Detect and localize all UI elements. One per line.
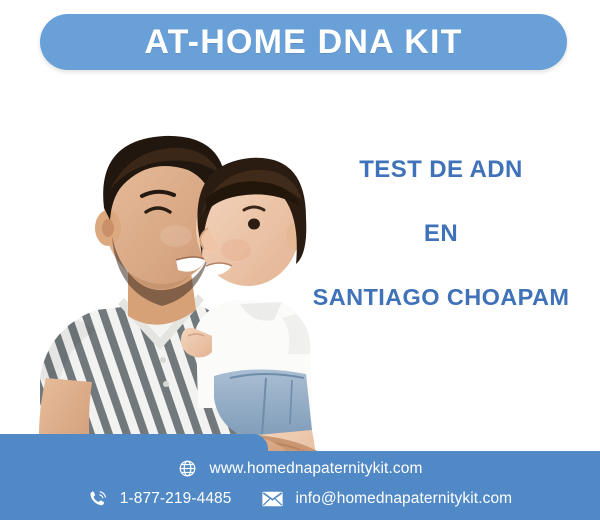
phone-contact-item[interactable]: 1-877-219-4485	[88, 489, 232, 508]
footer-phone-email-row: 1-877-219-4485 info@homednapaternitykit.…	[0, 489, 600, 508]
heading-line-location: SANTIAGO CHOAPAM	[296, 286, 586, 310]
header-pill-banner: AT-HOME DNA KIT	[40, 14, 567, 70]
email-address: info@homednapaternitykit.com	[296, 491, 513, 507]
phone-icon	[88, 489, 107, 508]
email-contact-item[interactable]: info@homednapaternitykit.com	[262, 491, 513, 507]
page-title: AT-HOME DNA KIT	[144, 25, 462, 59]
footer-contact-bar: www.homednapaternitykit.com 1-877-219-44…	[0, 451, 600, 520]
footer-website-row: www.homednapaternitykit.com	[0, 459, 600, 478]
website-contact-item[interactable]: www.homednapaternitykit.com	[178, 459, 423, 478]
phone-number: 1-877-219-4485	[120, 491, 232, 507]
poster-root: AT-HOME DNA KIT	[0, 0, 600, 520]
location-headings: TEST DE ADN EN SANTIAGO CHOAPAM	[296, 158, 586, 310]
website-url: www.homednapaternitykit.com	[210, 461, 423, 477]
globe-icon	[178, 459, 197, 478]
heading-line-test-de-adn: TEST DE ADN	[296, 158, 586, 182]
father-and-child-photo	[0, 78, 340, 468]
envelope-icon	[262, 491, 283, 507]
heading-line-en: EN	[296, 222, 586, 246]
